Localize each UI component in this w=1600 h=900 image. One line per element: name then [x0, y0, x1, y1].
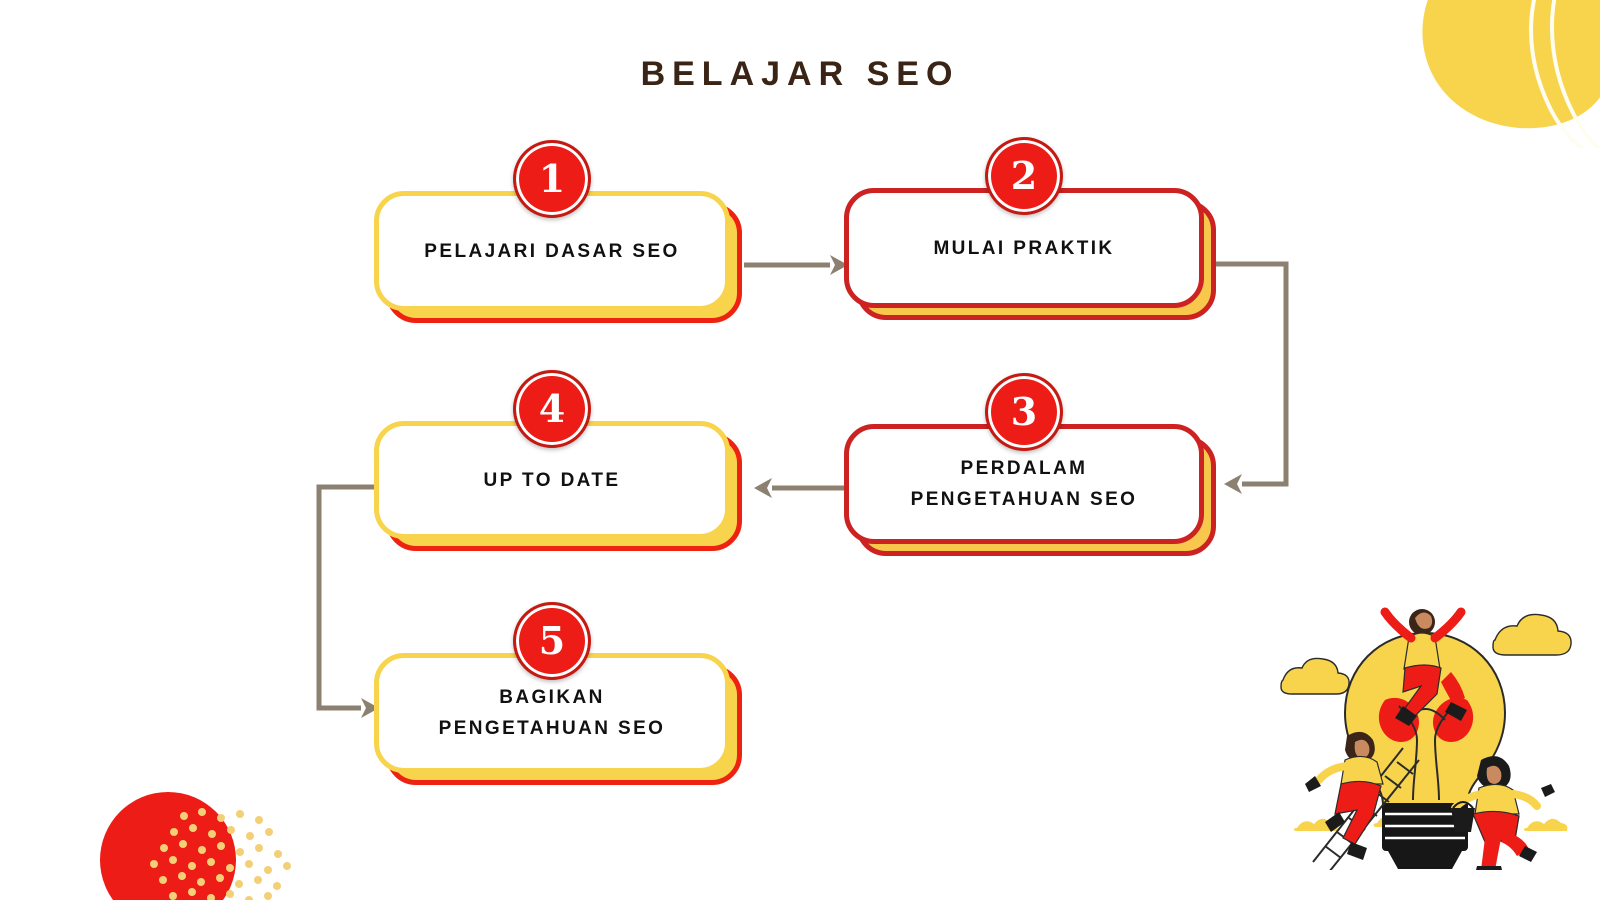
step-card-4-label: UP TO DATE	[458, 465, 647, 496]
step-card-1-label: PELAJARI DASAR SEO	[398, 236, 705, 267]
page-title: BELAJAR SEO	[0, 55, 1600, 94]
step-card-3[interactable]: PERDALAM PENGETAHUAN SEO 3	[844, 424, 1204, 544]
step-card-5[interactable]: BAGIKAN PENGETAHUAN SEO 5	[374, 653, 730, 773]
step-badge-2: 2	[985, 137, 1063, 215]
step-badge-3: 3	[985, 373, 1063, 451]
lightbulb-teamwork-icon	[1255, 580, 1595, 870]
step-card-4[interactable]: UP TO DATE 4	[374, 421, 730, 539]
connector-step1-to-step2	[742, 240, 852, 290]
step-card-1[interactable]: PELAJARI DASAR SEO 1	[374, 191, 730, 311]
step-badge-4: 4	[513, 370, 591, 448]
step-card-5-label: BAGIKAN PENGETAHUAN SEO	[413, 682, 692, 744]
connector-step3-to-step4	[745, 463, 860, 513]
step-badge-1: 1	[513, 140, 591, 218]
infographic-canvas: BELAJAR SEO PELAJARI DASAR SEO 1 MULAI P…	[0, 0, 1600, 900]
step-card-2-label: MULAI PRAKTIK	[907, 233, 1140, 264]
step-card-3-label: PERDALAM PENGETAHUAN SEO	[885, 453, 1164, 515]
step-card-2[interactable]: MULAI PRAKTIK 2	[844, 188, 1204, 308]
connector-step2-to-step3	[1208, 240, 1318, 500]
step-badge-5: 5	[513, 602, 591, 680]
red-dotted-circle-icon	[88, 770, 308, 900]
